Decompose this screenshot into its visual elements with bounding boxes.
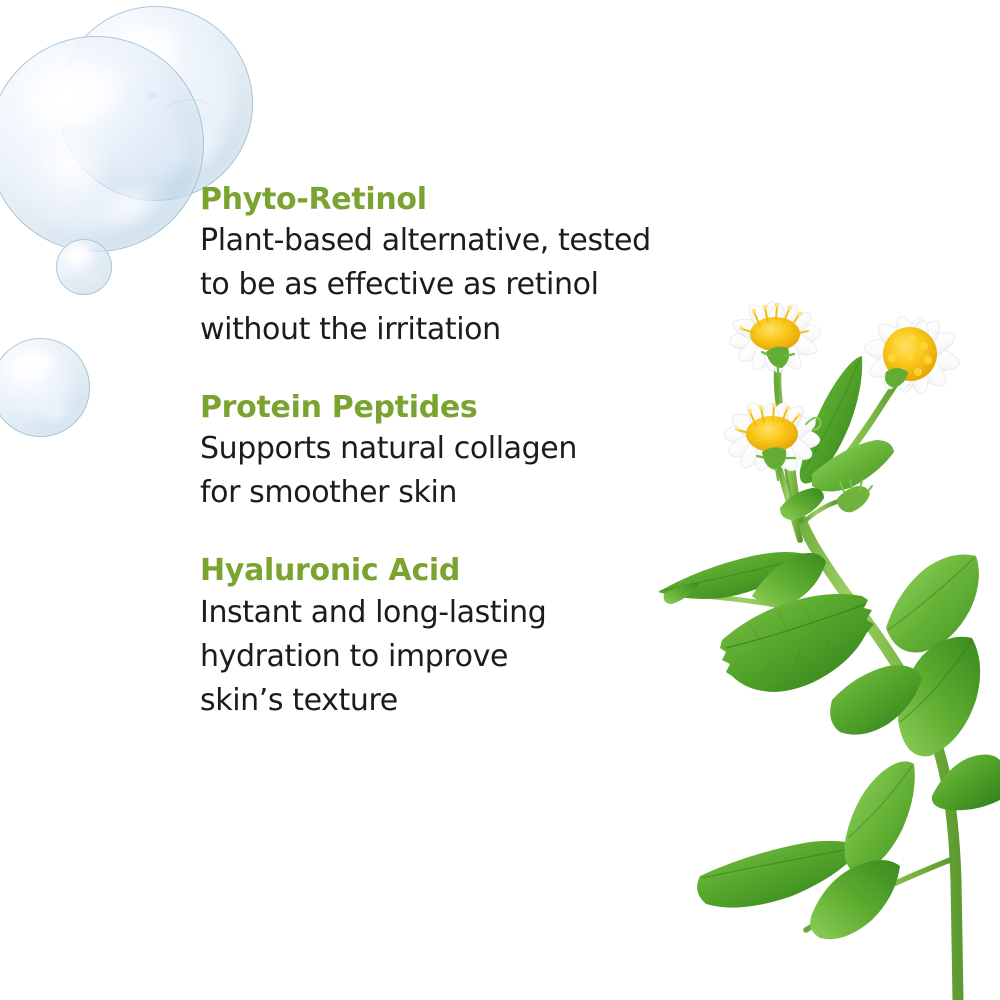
feature-title-phyto-retinol: Phyto-Retinol [200, 182, 765, 217]
leaf-right-upper [886, 555, 979, 653]
bubble-small-icon [56, 239, 112, 295]
bubble-medium-icon [0, 338, 90, 437]
body-line: Supports natural collagen [200, 427, 765, 471]
leaf-mid-lower-left [830, 665, 922, 734]
feature-protein-peptides: Protein Peptides Supports natural collag… [200, 390, 765, 516]
body-line: without the irritation [200, 308, 765, 352]
leaf-right-lower [898, 637, 980, 757]
feature-phyto-retinol: Phyto-Retinol Plant-based alternative, t… [200, 182, 765, 352]
body-line: to be as effective as retinol [200, 263, 765, 307]
calyx [885, 368, 908, 388]
feature-body-protein-peptides: Supports natural collagen for smoother s… [200, 427, 765, 515]
leaf-bottom-upper [845, 761, 915, 874]
leaf-small-upper-left [780, 488, 824, 520]
leaf-bottom-lower [810, 860, 900, 939]
body-line: Plant-based alternative, tested [200, 219, 765, 263]
calyx [766, 347, 789, 368]
body-line: skin’s texture [200, 679, 765, 723]
leaf-spear-upper [800, 356, 863, 484]
leaf-top-cap [932, 754, 1000, 810]
body-line: for smoother skin [200, 471, 765, 515]
promo-graphic: Phyto-Retinol Plant-based alternative, t… [0, 0, 1000, 1000]
feature-list: Phyto-Retinol Plant-based alternative, t… [200, 182, 765, 723]
feature-title-hyaluronic-acid: Hyaluronic Acid [200, 553, 765, 588]
feature-body-hyaluronic-acid: Instant and long-lasting hydration to im… [200, 591, 765, 723]
body-line: Instant and long-lasting [200, 591, 765, 635]
leaf-bottom-long [697, 841, 862, 908]
bubble-speck-icon [148, 93, 157, 98]
bubble-large-left-icon [0, 36, 204, 252]
feature-hyaluronic-acid: Hyaluronic Acid Instant and long-lasting… [200, 553, 765, 723]
flower-bud [836, 480, 872, 512]
body-line: hydration to improve [200, 635, 765, 679]
calyx [762, 447, 786, 470]
pollen-center [883, 327, 937, 381]
feature-body-phyto-retinol: Plant-based alternative, tested to be as… [200, 219, 765, 351]
daisy-flower-upper-right [862, 313, 961, 397]
leaf-spear-upper-right [812, 440, 894, 492]
feature-title-protein-peptides: Protein Peptides [200, 390, 765, 425]
bubble-arc-icon [161, 97, 210, 122]
bubble-large-top-icon [58, 6, 253, 201]
petals [862, 313, 961, 397]
